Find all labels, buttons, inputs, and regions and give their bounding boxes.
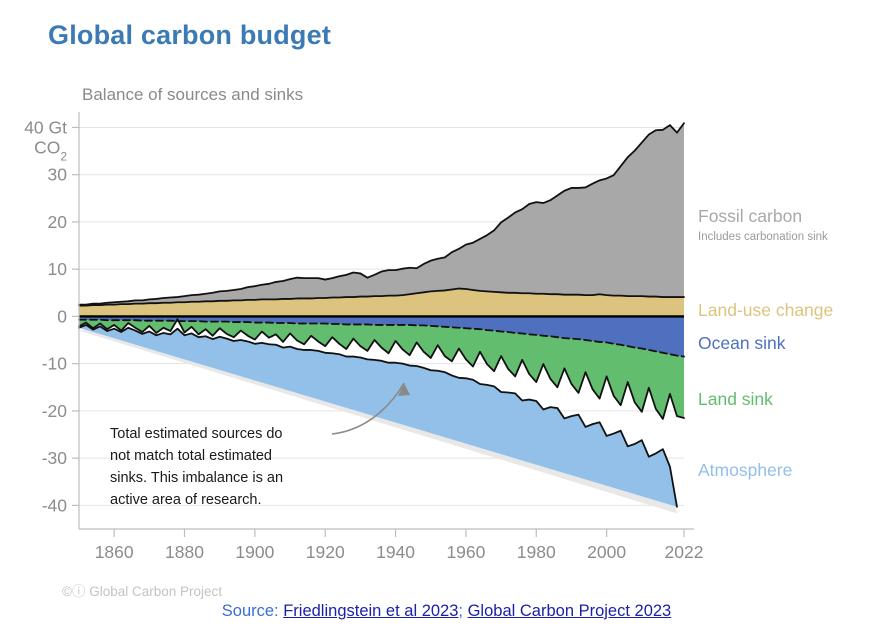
xtick-label-1920: 1920 bbox=[306, 542, 345, 562]
legend-label-landuse: Land-use change bbox=[698, 300, 833, 320]
xtick-label-1960: 1960 bbox=[446, 542, 485, 562]
xtick-label-1980: 1980 bbox=[517, 542, 556, 562]
source-line: Source: Friedlingstein et al 2023; Globa… bbox=[0, 602, 893, 621]
ytick-label--20: -20 bbox=[42, 401, 68, 421]
source-link-friedlingstein[interactable]: Friedlingstein et al 2023 bbox=[283, 602, 458, 620]
ytick-label-20: 20 bbox=[48, 212, 68, 232]
ytick-label-30: 30 bbox=[48, 165, 68, 185]
xtick-label-2022: 2022 bbox=[665, 542, 704, 562]
xtick-label-1900: 1900 bbox=[235, 542, 274, 562]
legend-sublabel-fossil: Includes carbonation sink bbox=[698, 231, 828, 243]
xtick-label-2000: 2000 bbox=[587, 542, 626, 562]
annotation-line2: not match total estimated bbox=[110, 448, 272, 464]
annotation-line3: sinks. This imbalance is an bbox=[110, 470, 283, 486]
legend-label-atmosphere: Atmosphere bbox=[698, 460, 792, 480]
ytick-label-40: 40 Gt bbox=[24, 117, 67, 137]
ytick-label--40: -40 bbox=[42, 495, 68, 515]
legend-label-land: Land sink bbox=[698, 389, 773, 409]
annotation-line1: Total estimated sources do bbox=[110, 426, 282, 442]
ytick-label-unit: CO2 bbox=[34, 137, 67, 163]
legend-label-fossil: Fossil carbon bbox=[698, 206, 802, 226]
xtick-label-1860: 1860 bbox=[95, 542, 134, 562]
xtick-label-1940: 1940 bbox=[376, 542, 415, 562]
source-link-gcp[interactable]: Global Carbon Project 2023 bbox=[468, 602, 672, 620]
ytick-label-10: 10 bbox=[48, 259, 68, 279]
source-label: Source: bbox=[222, 602, 283, 620]
ytick-label-0: 0 bbox=[57, 306, 67, 326]
annotation-line4: active area of research. bbox=[110, 492, 262, 508]
fossil-carbon-area bbox=[79, 123, 684, 316]
ytick-label--30: -30 bbox=[42, 448, 68, 468]
ytick-label--10: -10 bbox=[42, 354, 68, 374]
legend-label-ocean: Ocean sink bbox=[698, 333, 786, 353]
license-mark: ©ⓘ Global Carbon Project bbox=[62, 580, 222, 600]
carbon-budget-chart: 40 GtCO23020100-10-20-30-401860188019001… bbox=[0, 0, 893, 642]
source-separator: ; bbox=[458, 602, 467, 620]
xtick-label-1880: 1880 bbox=[165, 542, 204, 562]
chart-container: 40 GtCO23020100-10-20-30-401860188019001… bbox=[0, 0, 893, 642]
